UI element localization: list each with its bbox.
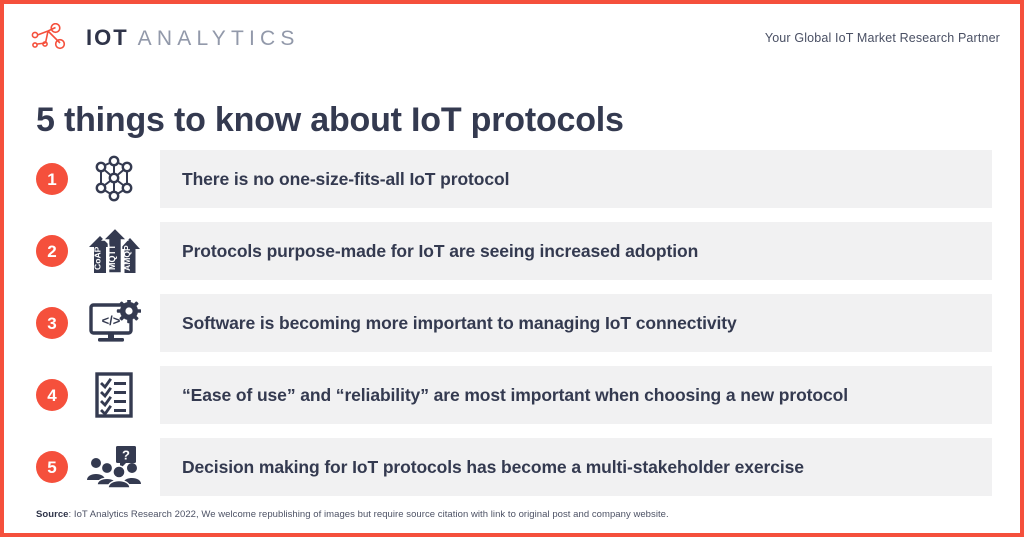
- list-item: 1: [36, 150, 992, 208]
- number-badge: 5: [36, 451, 68, 483]
- point-text: “Ease of use” and “reliability” are most…: [182, 385, 848, 406]
- point-bar: Software is becoming more important to m…: [160, 294, 992, 352]
- point-text: Software is becoming more important to m…: [182, 313, 737, 334]
- number-badge: 4: [36, 379, 68, 411]
- source-label: Source: [36, 509, 69, 520]
- points-list: 1: [36, 150, 992, 510]
- list-item: 5 ?: [36, 438, 992, 496]
- wordmark-analytics: ANALYTICS: [138, 28, 300, 49]
- point-text: There is no one-size-fits-all IoT protoc…: [182, 169, 509, 190]
- list-item: 4: [36, 366, 992, 424]
- tagline: Your Global IoT Market Research Partner: [765, 31, 1000, 45]
- page-title: 5 things to know about IoT protocols: [36, 101, 624, 140]
- point-text: Protocols purpose-made for IoT are seein…: [182, 241, 698, 262]
- protocol-arrows-icon: CoAP AMQP MQTT: [86, 226, 142, 276]
- header: IOT ANALYTICS Your Global IoT Market Res…: [28, 18, 1000, 58]
- point-bar: “Ease of use” and “reliability” are most…: [160, 366, 992, 424]
- network-nodes-logo-icon: [28, 23, 72, 53]
- point-bar: There is no one-size-fits-all IoT protoc…: [160, 150, 992, 208]
- list-item: 2 CoAP AMQP MQTT: [36, 222, 992, 280]
- svg-text:AMQP: AMQP: [122, 245, 132, 271]
- infographic-canvas: IOT ANALYTICS Your Global IoT Market Res…: [0, 0, 1024, 537]
- network-mesh-icon: [86, 154, 142, 204]
- people-question-icon: ?: [86, 442, 142, 492]
- number-badge: 2: [36, 235, 68, 267]
- wordmark: IOT ANALYTICS: [86, 27, 300, 49]
- svg-text:CoAP: CoAP: [93, 246, 103, 270]
- number-badge: 1: [36, 163, 68, 195]
- source-text: : IoT Analytics Research 2022, We welcom…: [69, 509, 669, 520]
- point-text: Decision making for IoT protocols has be…: [182, 457, 804, 478]
- number-badge: 3: [36, 307, 68, 339]
- point-bar: Protocols purpose-made for IoT are seein…: [160, 222, 992, 280]
- source-note: Source: IoT Analytics Research 2022, We …: [36, 509, 669, 520]
- monitor-code-gear-icon: </>: [86, 298, 142, 348]
- svg-text:MQTT: MQTT: [107, 244, 117, 270]
- svg-text:</>: </>: [102, 313, 121, 328]
- checklist-clipboard-icon: [86, 370, 142, 420]
- wordmark-iot: IOT: [86, 27, 129, 49]
- svg-text:?: ?: [122, 448, 130, 463]
- list-item: 3 </>: [36, 294, 992, 352]
- brand-lockup: IOT ANALYTICS: [28, 23, 300, 53]
- point-bar: Decision making for IoT protocols has be…: [160, 438, 992, 496]
